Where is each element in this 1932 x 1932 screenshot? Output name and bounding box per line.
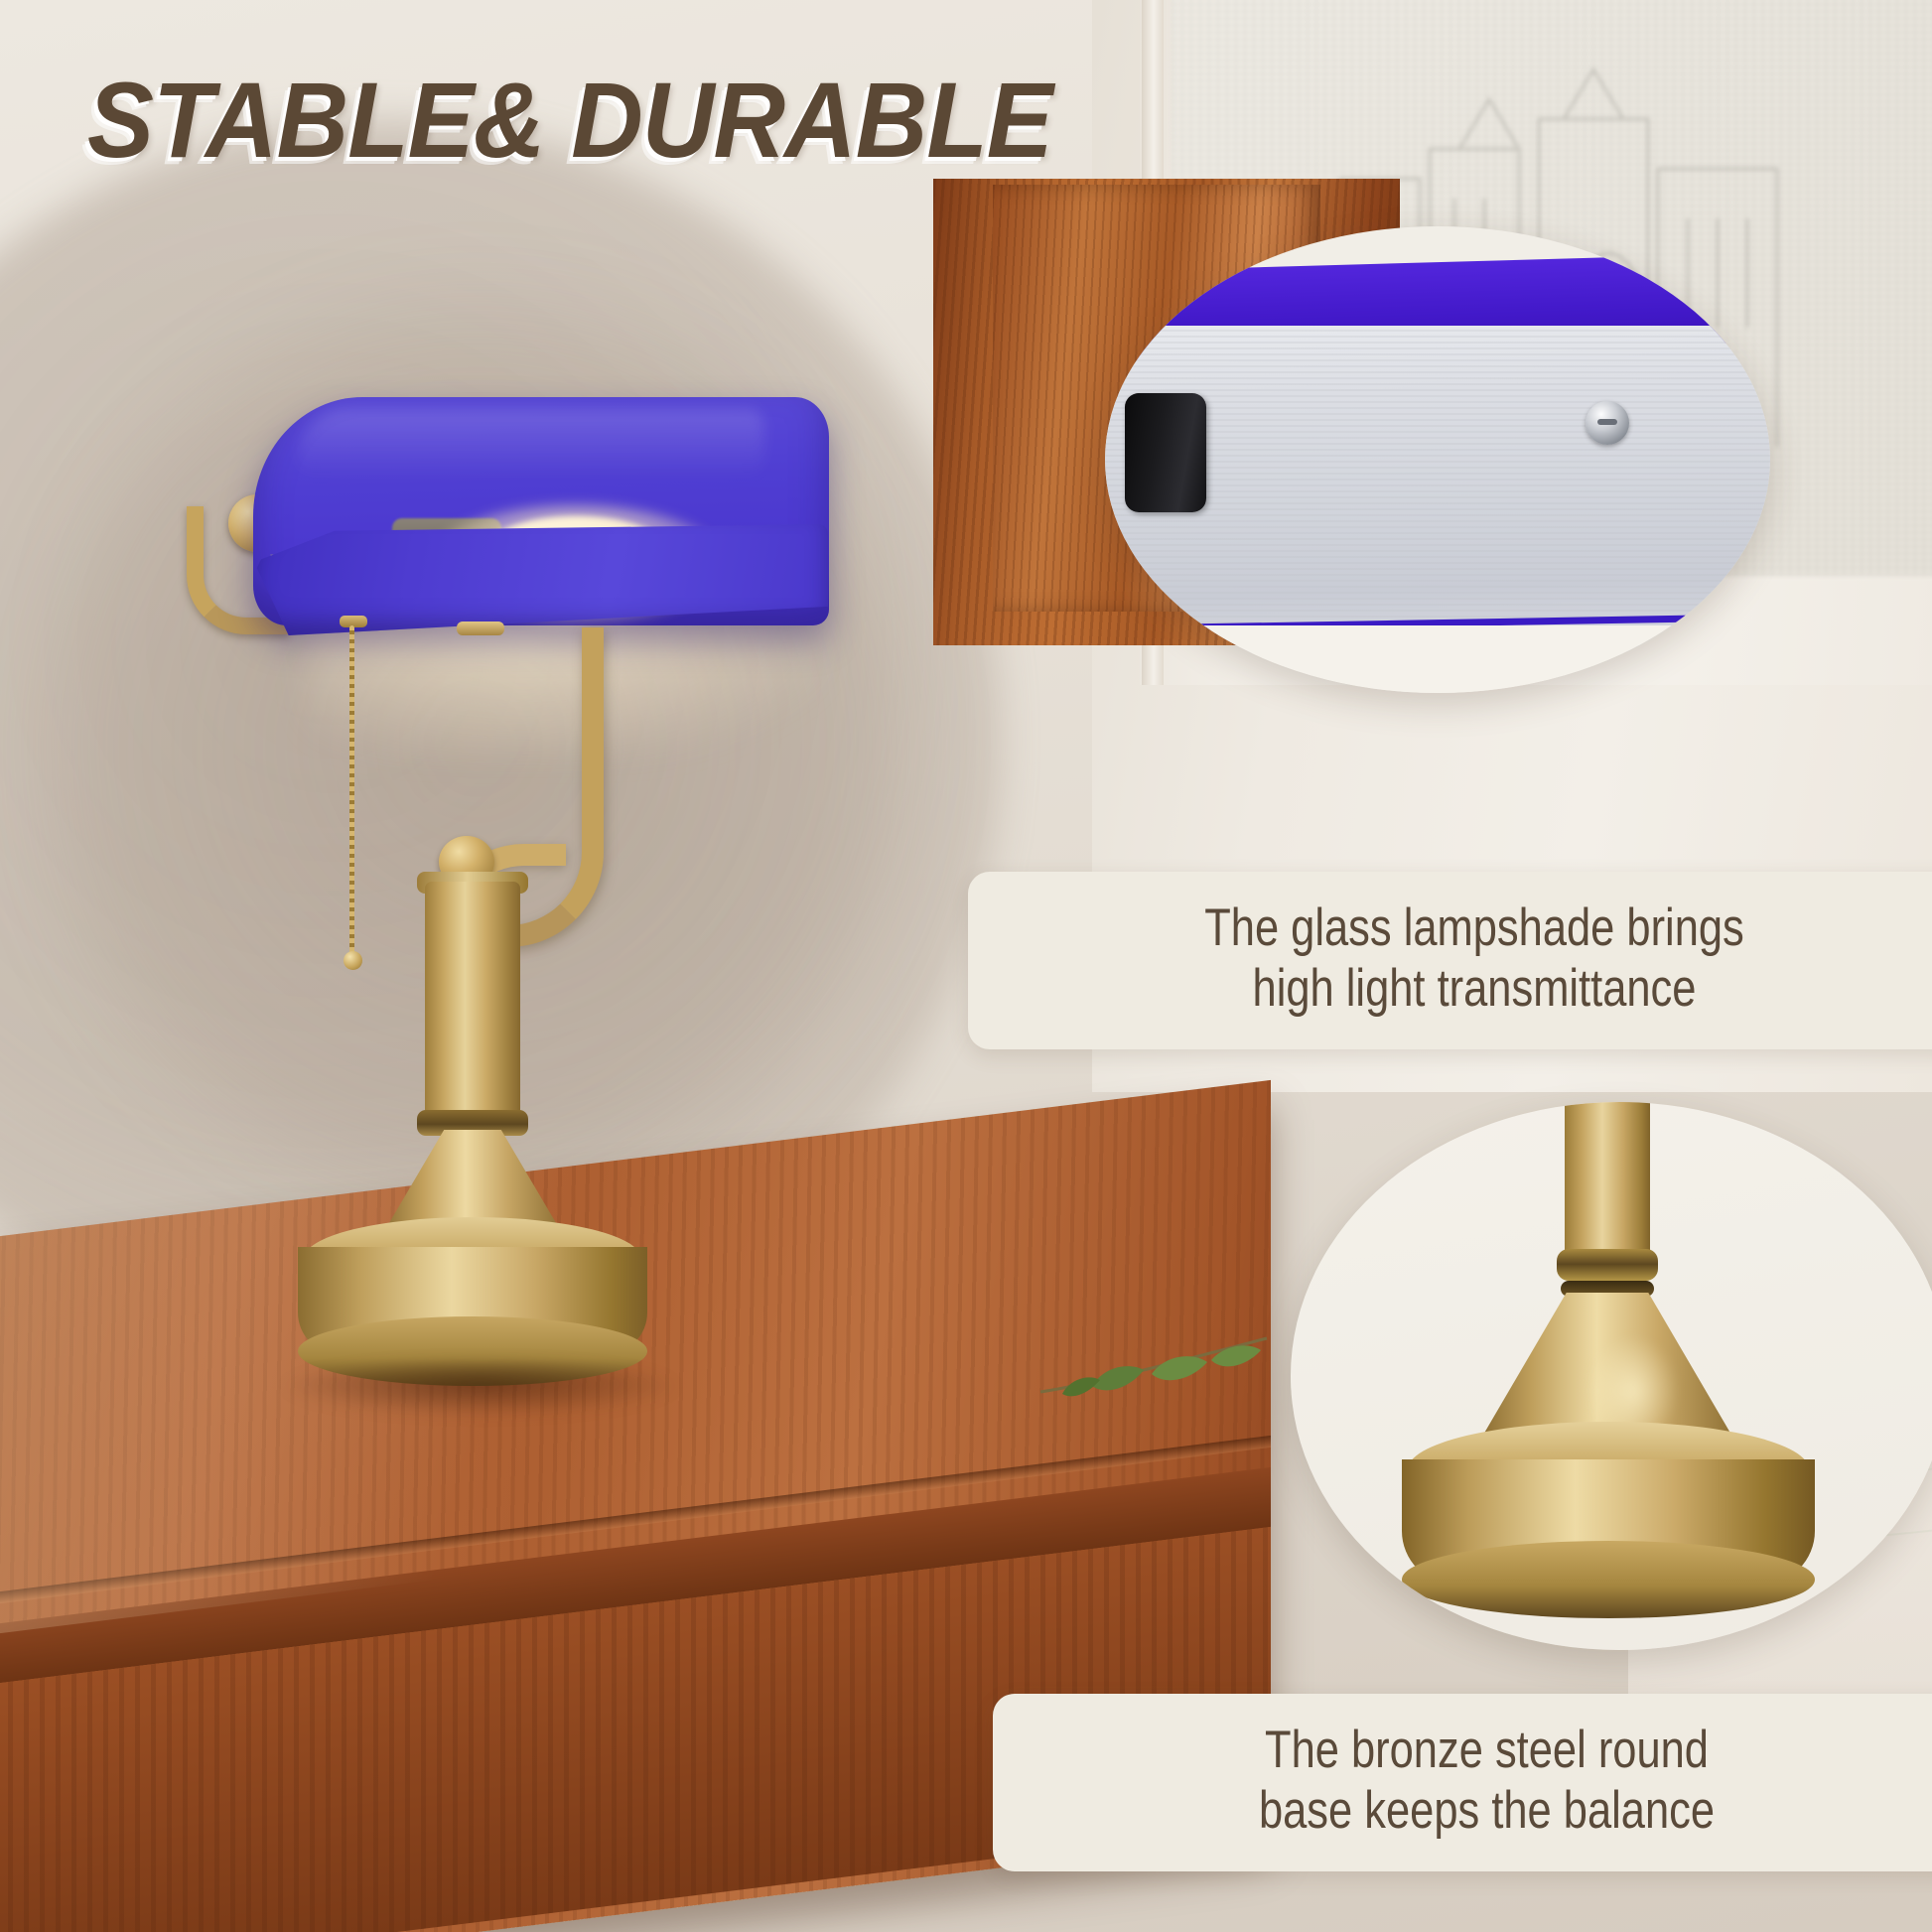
detail-black-socket (1125, 393, 1206, 512)
caption-line-1: The glass lampshade brings (1087, 897, 1863, 958)
caption-line-1: The bronze steel round (1109, 1720, 1863, 1780)
base-contact-shadow (282, 1362, 679, 1416)
pull-chain-bead (344, 951, 362, 970)
shade-highlight (298, 409, 764, 479)
leaf-sprig-icon (1033, 1316, 1281, 1406)
caption-line-2: high light transmittance (1087, 958, 1863, 1019)
caption-bronze-base-balance: The bronze steel round base keeps the ba… (993, 1694, 1932, 1871)
detail-brass-stem (1565, 1102, 1650, 1261)
detail-base-bottom-disc (1402, 1541, 1815, 1618)
caption-lampshade-transmittance: The glass lampshade brings high light tr… (968, 872, 1932, 1049)
detail-stem-collar (1557, 1249, 1658, 1281)
bankers-desk-lamp (179, 377, 894, 1449)
caption-line-2: base keeps the balance (1109, 1780, 1863, 1841)
detail-circle-base (1291, 1102, 1932, 1650)
detail-lower-backdrop (1105, 625, 1770, 693)
brass-column (425, 882, 520, 1120)
detail-circle-lampshade (1105, 226, 1770, 693)
brass-neck-collar (457, 621, 504, 635)
pull-chain (349, 625, 354, 963)
product-banner: STABLE& DURABLE The glass lampshade brin… (0, 0, 1932, 1932)
page-title: STABLE& DURABLE (87, 58, 1052, 182)
detail-screw-slot (1597, 419, 1617, 425)
